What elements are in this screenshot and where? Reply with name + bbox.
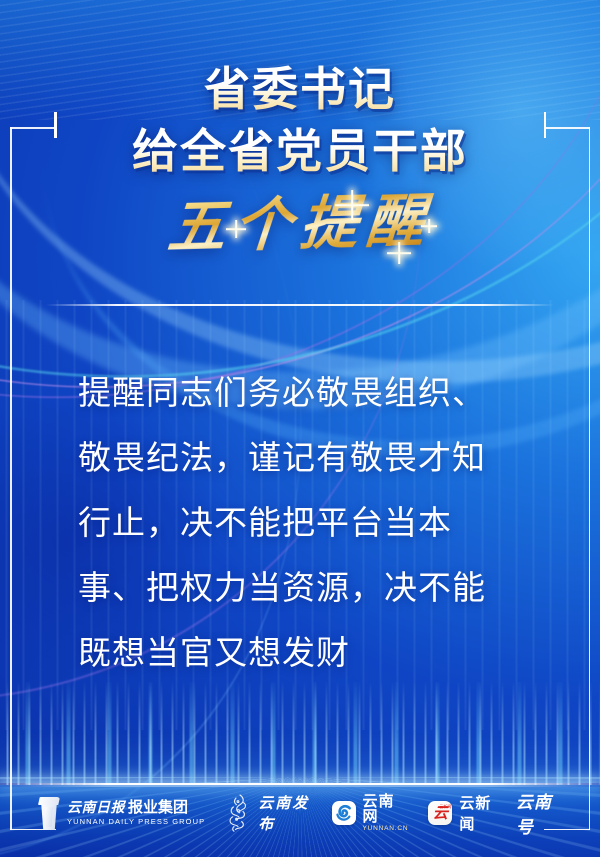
- red-yun-tagline: 云新闻: [439, 805, 451, 809]
- calligraphy-title: 五个提醒: [165, 182, 436, 267]
- logo-yun-news[interactable]: 云 云新闻 云新闻: [428, 792, 496, 834]
- body-text-line: 既想当官又想发财: [78, 620, 538, 685]
- logo-yunnan-daily-text: 云南日报 报业集团 YUNNAN DAILY PRESS GROUP: [67, 800, 205, 826]
- logo-yunnan-daily-press-group[interactable]: 云南日报 报业集团 YUNNAN DAILY PRESS GROUP: [38, 796, 205, 830]
- logo-yunnan-daily-cn-bold: 报业集团: [128, 800, 188, 815]
- phoenix-icon: [225, 793, 251, 833]
- logo-yunnan-net-label: 云南网: [363, 794, 409, 824]
- logo-yunnan-hao-label: 云南号: [516, 788, 562, 838]
- body-text-line: 提醒同志们务必敬畏组织、: [78, 360, 538, 425]
- cup-icon: [38, 796, 60, 830]
- headline-block: 省委书记 给全省党员干部: [0, 58, 600, 182]
- poster-canvas: 省委书记 给全省党员干部 五个提醒 提醒同志们务必敬畏组织、 敬畏纪法，谨记有敬…: [0, 0, 600, 857]
- body-text-block: 提醒同志们务必敬畏组织、 敬畏纪法，谨记有敬畏才知 行止，决不能把平台当本 事、…: [78, 360, 538, 685]
- logo-yun-news-label: 云新闻: [459, 792, 496, 834]
- logo-yunnan-fabu-label: 云南发布: [258, 792, 311, 834]
- logo-yunnan-daily-cn-calligraphy: 云南日报: [67, 801, 125, 815]
- logo-yunnan-daily-en: YUNNAN DAILY PRESS GROUP: [67, 818, 205, 826]
- calligraphy-block: 五个提醒: [0, 185, 600, 263]
- cloud-spiral-icon: [332, 801, 356, 825]
- logo-yunnan-hao[interactable]: 云南号: [516, 788, 562, 838]
- footer-logo-strip: 云南日报 报业集团 YUNNAN DAILY PRESS GROUP: [0, 785, 600, 841]
- headline-line-2: 给全省党员干部: [0, 120, 600, 182]
- body-text-line: 事、把权力当资源，决不能: [78, 555, 538, 620]
- logo-yunnan-net-en: YUNNAN.CN: [363, 826, 409, 833]
- headline-line-1: 省委书记: [0, 58, 600, 120]
- body-text-line: 敬畏纪法，谨记有敬畏才知: [78, 425, 538, 490]
- logo-yunnan-fabu[interactable]: 云南发布: [225, 792, 311, 834]
- logo-yunnan-net-text: 云南网 YUNNAN.CN: [363, 794, 409, 833]
- poster-content: 省委书记 给全省党员干部 五个提醒 提醒同志们务必敬畏组织、 敬畏纪法，谨记有敬…: [0, 0, 600, 857]
- logo-yunnan-net[interactable]: 云南网 YUNNAN.CN: [332, 794, 409, 833]
- section-divider: [46, 304, 554, 306]
- body-text-line: 行止，决不能把平台当本: [78, 490, 538, 555]
- red-yun-app-icon: 云 云新闻: [428, 801, 452, 825]
